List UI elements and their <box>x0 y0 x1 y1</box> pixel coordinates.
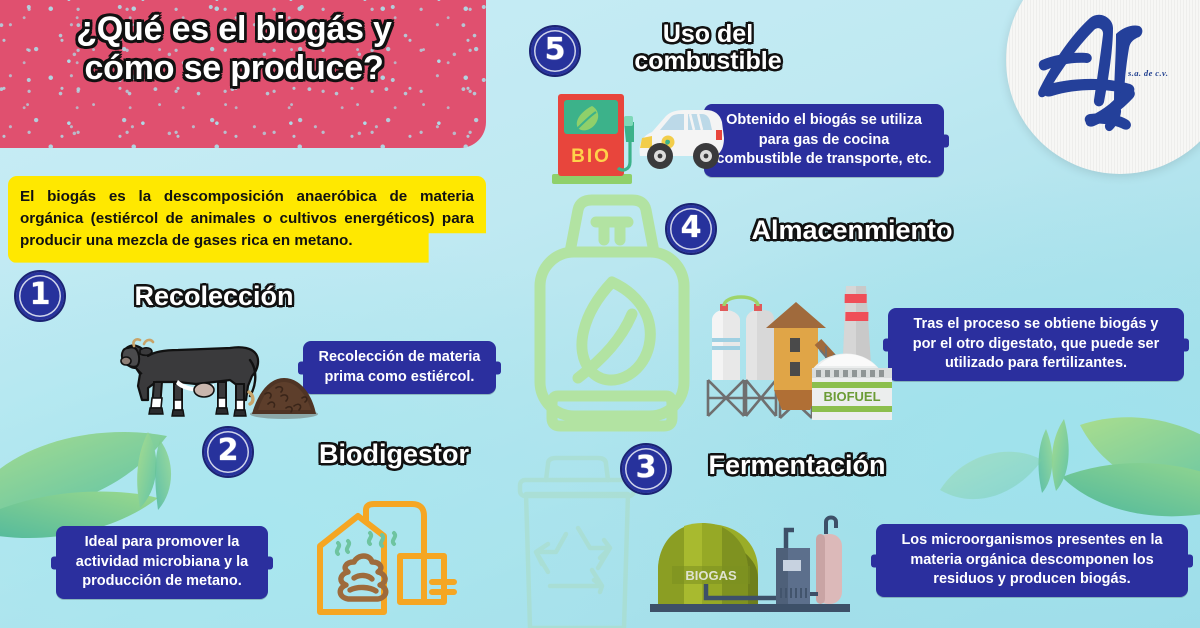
step-title-recoleccion: Recolección <box>108 272 320 322</box>
biodigester-icon <box>308 500 458 625</box>
step-title-label-5-line-2: combustible <box>634 48 781 75</box>
step-badge-5: 5 <box>529 25 581 77</box>
step-caption-1: Recolección de materia prima como estiér… <box>303 341 496 394</box>
step-title-fermentacion: Fermentación <box>683 441 911 491</box>
step-number-1: 1 <box>30 280 51 310</box>
step-caption-3: Los microorganismos presentes en la mate… <box>876 524 1188 597</box>
step-badge-1: 1 <box>14 270 66 322</box>
step-title-biodigestor: Biodigestor <box>278 430 510 480</box>
page-title: ¿Qué es el biogás y cómo se produce? <box>0 0 486 89</box>
step-title-label-1: Recolección <box>134 282 293 311</box>
biofuel-plant-illustration: BIOFUEL <box>700 280 892 420</box>
step-number-5: 5 <box>545 35 566 65</box>
step-title-almacenmiento: Almacenmiento <box>726 206 978 256</box>
step-badge-3: 3 <box>620 443 672 495</box>
step-badge-2: 2 <box>202 426 254 478</box>
step-title-uso-del-combustible: Uso del combustible <box>592 9 824 87</box>
step-title-label-3: Fermentación <box>708 451 885 480</box>
infographic-canvas: ¿Qué es el biogás y cómo se produce? El … <box>0 0 1200 628</box>
biofuel-plant-label: BIOFUEL <box>823 389 880 404</box>
cow-and-manure-illustration <box>118 330 318 422</box>
step-number-4: 4 <box>681 213 702 243</box>
step-title-label-5-line-1: Uso del <box>663 21 753 48</box>
step-title-label-2: Biodigestor <box>319 440 469 469</box>
page-title-line-2: cómo se produce? <box>8 49 460 88</box>
step-caption-2: Ideal para promover la actividad microbi… <box>56 526 268 599</box>
step-badge-4: 4 <box>665 203 717 255</box>
step-caption-4: Tras el proceso se obtiene biogás y por … <box>888 308 1184 381</box>
company-logo[interactable]: s.a. de c.v. <box>1006 0 1200 174</box>
biogas-tank-illustration: BIOGAS <box>650 508 850 620</box>
header-banner: ¿Qué es el biogás y cómo se produce? <box>0 0 486 148</box>
step-caption-5: Obtenido el biogás se utiliza para gas d… <box>704 104 944 177</box>
step-number-3: 3 <box>636 453 657 483</box>
bio-pump-label: BIO <box>571 146 611 167</box>
logo-subtext: s.a. de c.v. <box>1128 68 1168 78</box>
bio-fuel-pump-and-car-illustration: BIO <box>534 86 724 186</box>
intro-text-box: El biogás es la descomposición anaeróbic… <box>8 176 486 263</box>
biogas-tank-label: BIOGAS <box>685 568 737 583</box>
step-title-label-4: Almacenmiento <box>751 216 952 245</box>
step-number-2: 2 <box>218 436 239 466</box>
page-title-line-1: ¿Qué es el biogás y <box>8 10 460 49</box>
